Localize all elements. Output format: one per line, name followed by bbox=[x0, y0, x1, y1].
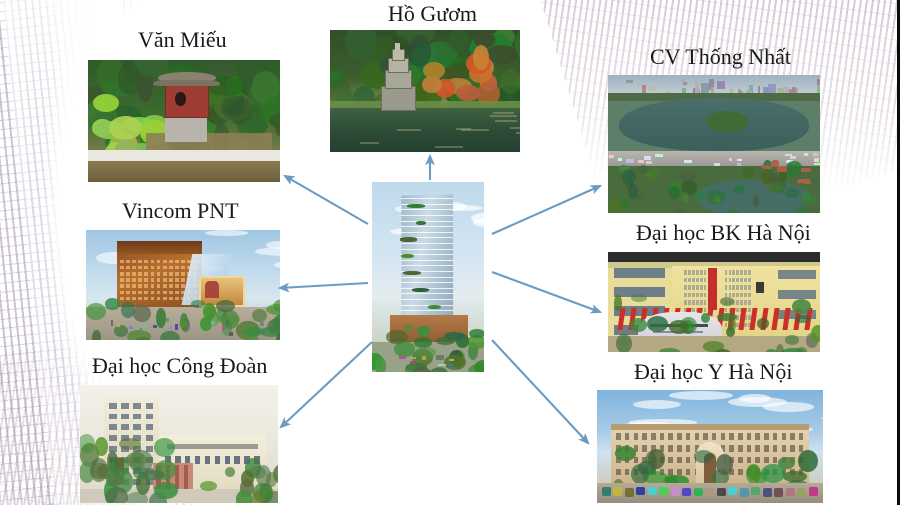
photo-detail bbox=[669, 320, 689, 334]
label-dai-hoc-y-ha-noi: Đại học Y Hà Nội bbox=[634, 360, 792, 384]
photo-detail bbox=[686, 457, 691, 464]
photo-detail bbox=[146, 414, 154, 420]
photo-central-project-tower[interactable] bbox=[372, 182, 484, 372]
photo-detail bbox=[132, 260, 136, 264]
photo-detail bbox=[609, 155, 613, 158]
photo-detail bbox=[686, 433, 691, 440]
photo-detail bbox=[773, 457, 778, 464]
photo-detail bbox=[120, 297, 124, 301]
photo-detail bbox=[642, 445, 647, 452]
photo-detail bbox=[700, 278, 703, 283]
photo-detail bbox=[414, 337, 432, 347]
photo-detail bbox=[417, 326, 430, 335]
photo-detail bbox=[696, 278, 699, 283]
photo-detail bbox=[411, 357, 416, 360]
photo-detail bbox=[225, 456, 231, 464]
photo-detail bbox=[132, 291, 136, 295]
arrow-to-van-mieu bbox=[285, 176, 368, 224]
photo-detail bbox=[399, 356, 406, 359]
photo-detail bbox=[801, 168, 812, 172]
photo-detail bbox=[648, 449, 665, 469]
photo-detail bbox=[649, 86, 656, 91]
photo-detail bbox=[151, 291, 155, 295]
photo-detail bbox=[170, 325, 172, 330]
photo-detail bbox=[708, 268, 718, 310]
photo-detail bbox=[611, 424, 810, 430]
photo-detail bbox=[618, 158, 622, 161]
photo-detail bbox=[686, 469, 691, 476]
photo-detail bbox=[748, 278, 751, 283]
photo-detail bbox=[126, 452, 146, 468]
photo-detail bbox=[401, 249, 453, 250]
photo-detail bbox=[381, 86, 415, 111]
photo-detail bbox=[229, 332, 232, 336]
photo-detail bbox=[763, 488, 772, 496]
photo-detail bbox=[133, 414, 141, 420]
photo-detail bbox=[175, 297, 179, 301]
photo-dai-hoc-y-ha-noi[interactable] bbox=[597, 390, 823, 503]
photo-detail bbox=[696, 293, 699, 298]
photo-detail bbox=[700, 270, 703, 275]
photo-detail bbox=[154, 482, 178, 499]
photo-detail bbox=[721, 433, 726, 440]
photo-detail bbox=[120, 284, 124, 288]
photo-detail bbox=[140, 328, 142, 332]
photo-detail bbox=[811, 325, 820, 342]
photo-detail bbox=[215, 456, 221, 464]
photo-detail bbox=[129, 326, 133, 329]
photo-detail bbox=[748, 285, 751, 290]
photo-detail bbox=[782, 348, 804, 352]
photo-detail bbox=[146, 424, 154, 430]
photo-detail bbox=[153, 325, 157, 328]
photo-detail bbox=[725, 278, 728, 283]
photo-detail bbox=[765, 349, 778, 352]
photo-detail bbox=[461, 129, 489, 131]
photo-detail bbox=[682, 192, 689, 203]
photo-detail bbox=[755, 457, 760, 464]
photo-detail bbox=[647, 316, 668, 332]
photo-detail bbox=[252, 309, 267, 323]
photo-detail bbox=[736, 278, 739, 283]
photo-detail bbox=[703, 433, 708, 440]
photo-detail bbox=[236, 490, 252, 503]
photo-detail bbox=[401, 293, 453, 294]
photo-detail bbox=[626, 159, 633, 163]
photo-detail bbox=[717, 488, 726, 496]
photo-detail bbox=[726, 210, 739, 213]
photo-detail bbox=[117, 323, 120, 327]
photo-detail bbox=[448, 30, 468, 51]
label-van-mieu: Văn Miếu bbox=[138, 28, 227, 52]
photo-detail bbox=[713, 196, 721, 202]
photo-detail bbox=[154, 438, 175, 456]
photo-detail bbox=[644, 156, 650, 160]
photo-detail bbox=[616, 334, 632, 352]
photo-detail bbox=[737, 159, 742, 161]
photo-detail bbox=[751, 487, 760, 495]
photo-detail bbox=[449, 359, 454, 361]
photo-detail bbox=[684, 278, 687, 283]
photo-detail bbox=[151, 297, 155, 301]
photo-detail bbox=[181, 272, 185, 276]
photo-detail bbox=[195, 456, 201, 464]
photo-detail bbox=[614, 295, 622, 310]
photo-detail bbox=[628, 184, 637, 198]
photo-detail bbox=[120, 291, 124, 295]
photo-detail bbox=[407, 204, 425, 208]
photo-detail bbox=[744, 300, 747, 305]
photo-detail bbox=[646, 161, 652, 164]
photo-detail bbox=[114, 325, 128, 337]
photo-detail bbox=[401, 215, 453, 216]
photo-detail bbox=[797, 488, 806, 496]
photo-vincom-pnt[interactable] bbox=[86, 230, 280, 340]
photo-detail bbox=[175, 272, 179, 276]
photo-detail bbox=[410, 361, 415, 364]
photo-detail bbox=[444, 355, 465, 370]
photo-cv-thong-nhat[interactable] bbox=[608, 75, 820, 213]
photo-detail bbox=[422, 356, 426, 360]
photo-detail bbox=[746, 464, 761, 485]
photo-detail bbox=[744, 285, 747, 290]
photo-detail bbox=[773, 445, 778, 452]
photo-detail bbox=[744, 323, 747, 328]
photo-detail bbox=[747, 433, 752, 440]
photo-detail bbox=[616, 433, 621, 440]
photo-detail bbox=[138, 278, 142, 282]
photo-detail bbox=[764, 457, 769, 464]
photo-detail bbox=[256, 465, 271, 487]
photo-detail bbox=[732, 285, 735, 290]
arrow-to-dh-bk bbox=[492, 272, 600, 312]
photo-detail bbox=[668, 433, 673, 440]
photo-detail bbox=[799, 433, 804, 440]
photo-detail bbox=[602, 487, 611, 495]
photo-detail bbox=[138, 272, 142, 276]
photo-detail bbox=[120, 272, 124, 276]
photo-detail bbox=[769, 174, 781, 182]
photo-detail bbox=[783, 471, 806, 482]
arrow-to-cv-thong-nhat bbox=[492, 186, 600, 234]
photo-detail bbox=[105, 298, 120, 309]
photo-detail bbox=[401, 282, 453, 283]
photo-detail bbox=[501, 69, 519, 94]
photo-detail bbox=[631, 294, 648, 302]
photo-detail bbox=[88, 161, 280, 182]
photo-detail bbox=[401, 310, 453, 311]
photo-detail bbox=[659, 348, 681, 352]
photo-detail bbox=[169, 291, 173, 295]
photo-detail bbox=[704, 278, 707, 283]
photo-detail bbox=[165, 84, 209, 118]
photo-detail bbox=[613, 487, 622, 495]
photo-detail bbox=[105, 487, 128, 503]
photo-detail bbox=[132, 278, 136, 282]
photo-detail bbox=[673, 209, 683, 213]
photo-detail bbox=[761, 464, 785, 484]
photo-detail bbox=[93, 94, 120, 112]
photo-detail bbox=[717, 81, 725, 89]
photo-detail bbox=[401, 232, 453, 233]
photo-detail bbox=[392, 49, 405, 61]
photo-detail bbox=[720, 297, 734, 306]
photo-detail bbox=[473, 45, 489, 70]
label-ho-guom: Hồ Gươm bbox=[388, 2, 477, 26]
photo-detail bbox=[109, 116, 142, 140]
photo-detail bbox=[144, 284, 148, 288]
photo-detail bbox=[146, 435, 154, 441]
photo-detail bbox=[205, 456, 211, 464]
photo-detail bbox=[126, 278, 130, 282]
photo-detail bbox=[175, 266, 179, 270]
photo-detail bbox=[748, 308, 751, 313]
photo-detail bbox=[608, 252, 820, 262]
photo-detail bbox=[401, 198, 453, 199]
photo-detail bbox=[638, 160, 644, 163]
photo-detail bbox=[729, 285, 732, 290]
photo-detail bbox=[740, 270, 743, 275]
photo-detail bbox=[704, 285, 707, 290]
photo-detail bbox=[109, 414, 117, 420]
photo-detail bbox=[144, 291, 148, 295]
photo-dai-hoc-bk-ha-noi[interactable] bbox=[608, 252, 820, 352]
photo-detail bbox=[728, 487, 737, 495]
photo-detail bbox=[126, 284, 130, 288]
photo-detail bbox=[692, 285, 695, 290]
photo-detail bbox=[151, 278, 155, 282]
photo-detail bbox=[782, 445, 787, 452]
photo-detail bbox=[777, 166, 787, 173]
arrow-to-vincom-pnt bbox=[280, 283, 368, 288]
photo-detail bbox=[655, 154, 663, 157]
label-dai-hoc-bk-ha-noi: Đại học BK Hà Nội bbox=[636, 221, 811, 245]
photo-detail bbox=[163, 266, 167, 270]
photo-detail bbox=[121, 424, 129, 430]
photo-detail bbox=[814, 158, 818, 161]
photo-detail bbox=[163, 291, 167, 295]
photo-detail bbox=[126, 266, 130, 270]
photo-detail bbox=[132, 297, 136, 301]
photo-detail bbox=[428, 305, 441, 309]
photo-detail bbox=[692, 293, 695, 298]
photo-detail bbox=[175, 284, 179, 288]
photo-dai-hoc-cong-doan[interactable] bbox=[80, 385, 278, 503]
photo-detail bbox=[120, 278, 124, 282]
photo-detail bbox=[704, 308, 707, 313]
photo-detail bbox=[169, 297, 173, 301]
photo-detail bbox=[694, 450, 713, 462]
photo-detail bbox=[786, 488, 795, 496]
photo-detail bbox=[260, 322, 264, 326]
photo-detail bbox=[120, 266, 124, 270]
photo-detail bbox=[175, 291, 179, 295]
photo-detail bbox=[118, 62, 141, 94]
photo-detail bbox=[158, 72, 216, 79]
photo-detail bbox=[625, 433, 630, 440]
photo-detail bbox=[736, 300, 739, 305]
photo-detail bbox=[684, 300, 687, 305]
photo-detail bbox=[138, 260, 142, 264]
photo-detail bbox=[696, 270, 699, 275]
photo-detail bbox=[169, 284, 173, 288]
photo-detail bbox=[167, 444, 258, 449]
photo-detail bbox=[163, 272, 167, 276]
photo-detail bbox=[401, 260, 453, 261]
photo-detail bbox=[166, 318, 169, 322]
photo-detail bbox=[169, 266, 173, 270]
photo-detail bbox=[778, 270, 816, 279]
photo-detail bbox=[671, 487, 680, 495]
photo-detail bbox=[747, 457, 752, 464]
photo-ho-guom[interactable] bbox=[330, 30, 520, 152]
photo-detail bbox=[696, 300, 699, 305]
photo-detail bbox=[205, 230, 248, 236]
photo-detail bbox=[516, 132, 520, 134]
photo-detail bbox=[684, 270, 687, 275]
photo-detail bbox=[729, 445, 734, 452]
label-cv-thong-nhat: CV Thống Nhất bbox=[650, 45, 791, 69]
photo-detail bbox=[401, 305, 453, 306]
photo-detail bbox=[684, 160, 692, 163]
photo-detail bbox=[616, 469, 621, 476]
photo-detail bbox=[738, 433, 743, 440]
slide-canvas: Văn Miếu Hồ Gươm CV Thống Nhất Vincom PN… bbox=[0, 0, 900, 505]
photo-detail bbox=[614, 268, 665, 278]
photo-detail bbox=[642, 433, 647, 440]
photo-detail bbox=[403, 271, 420, 275]
photo-detail bbox=[747, 445, 752, 452]
photo-detail bbox=[677, 457, 682, 464]
photo-detail bbox=[163, 278, 167, 282]
photo-detail bbox=[495, 120, 517, 122]
photo-detail bbox=[181, 260, 185, 264]
photo-detail bbox=[146, 403, 154, 409]
photo-detail bbox=[692, 278, 695, 283]
photo-detail bbox=[255, 247, 280, 256]
photo-detail bbox=[126, 291, 130, 295]
photo-detail bbox=[126, 297, 130, 301]
photo-detail bbox=[688, 300, 691, 305]
photo-detail bbox=[175, 278, 179, 282]
photo-detail bbox=[86, 303, 106, 320]
photo-detail bbox=[790, 156, 797, 159]
photo-detail bbox=[729, 293, 732, 298]
photo-detail bbox=[732, 270, 735, 275]
photo-detail bbox=[682, 488, 691, 496]
photo-detail bbox=[92, 330, 101, 340]
photo-detail bbox=[163, 260, 167, 264]
photo-detail bbox=[243, 327, 265, 336]
photo-detail bbox=[725, 323, 728, 328]
photo-detail bbox=[634, 433, 639, 440]
photo-detail bbox=[126, 272, 130, 276]
photo-detail bbox=[729, 278, 732, 283]
arrow-to-dh-cong-doan bbox=[281, 342, 372, 427]
photo-detail bbox=[138, 297, 142, 301]
photo-detail bbox=[744, 270, 747, 275]
photo-detail bbox=[725, 285, 728, 290]
label-vincom-pnt: Vincom PNT bbox=[122, 199, 239, 223]
photo-detail bbox=[138, 291, 142, 295]
photo-detail bbox=[744, 278, 747, 283]
photo-detail bbox=[144, 297, 148, 301]
photo-detail bbox=[677, 433, 682, 440]
photo-detail bbox=[438, 364, 446, 366]
photo-detail bbox=[181, 278, 185, 282]
photo-detail bbox=[625, 469, 630, 476]
photo-detail bbox=[700, 285, 703, 290]
photo-detail bbox=[668, 186, 680, 199]
photo-detail bbox=[798, 450, 817, 472]
photo-detail bbox=[138, 284, 142, 288]
photo-detail bbox=[738, 445, 743, 452]
photo-detail bbox=[778, 290, 816, 299]
photo-detail bbox=[412, 288, 429, 292]
photo-detail bbox=[668, 457, 673, 464]
photo-detail bbox=[686, 445, 691, 452]
photo-detail bbox=[764, 445, 769, 452]
photo-detail bbox=[801, 180, 809, 184]
photo-detail bbox=[696, 285, 699, 290]
photo-detail bbox=[401, 243, 453, 244]
photo-detail bbox=[684, 293, 687, 298]
photo-detail bbox=[725, 293, 728, 298]
photo-detail bbox=[669, 391, 733, 400]
photo-detail bbox=[132, 284, 136, 288]
photo-detail bbox=[738, 469, 743, 476]
photo-detail bbox=[456, 85, 479, 101]
photo-detail bbox=[163, 297, 167, 301]
photo-detail bbox=[814, 163, 820, 165]
photo-detail bbox=[684, 285, 687, 290]
photo-detail bbox=[660, 433, 665, 440]
photo-detail bbox=[682, 79, 684, 84]
photo-detail bbox=[704, 293, 707, 298]
photo-detail bbox=[774, 488, 783, 496]
photo-detail bbox=[700, 293, 703, 298]
photo-detail bbox=[251, 491, 264, 503]
photo-detail bbox=[748, 300, 751, 305]
photo-detail bbox=[677, 445, 682, 452]
photo-detail bbox=[401, 265, 453, 266]
photo-detail bbox=[200, 481, 217, 491]
photo-detail bbox=[397, 129, 421, 131]
photo-detail bbox=[144, 272, 148, 276]
photo-detail bbox=[692, 300, 695, 305]
photo-van-mieu[interactable] bbox=[88, 60, 280, 182]
photo-detail bbox=[169, 260, 173, 264]
photo-detail bbox=[157, 266, 161, 270]
photo-detail bbox=[821, 415, 823, 421]
photo-detail bbox=[795, 315, 809, 323]
photo-detail bbox=[144, 260, 148, 264]
photo-detail bbox=[782, 433, 787, 440]
photo-detail bbox=[636, 487, 645, 495]
photo-detail bbox=[169, 278, 173, 282]
photo-detail bbox=[756, 282, 763, 293]
photo-detail bbox=[688, 278, 691, 283]
photo-detail bbox=[132, 272, 136, 276]
photo-detail bbox=[88, 150, 280, 161]
photo-detail bbox=[223, 325, 225, 329]
photo-detail bbox=[651, 433, 656, 440]
photo-detail bbox=[138, 266, 142, 270]
photo-detail bbox=[126, 260, 130, 264]
photo-detail bbox=[175, 324, 178, 330]
photo-detail bbox=[151, 272, 155, 276]
photo-detail bbox=[109, 435, 117, 441]
